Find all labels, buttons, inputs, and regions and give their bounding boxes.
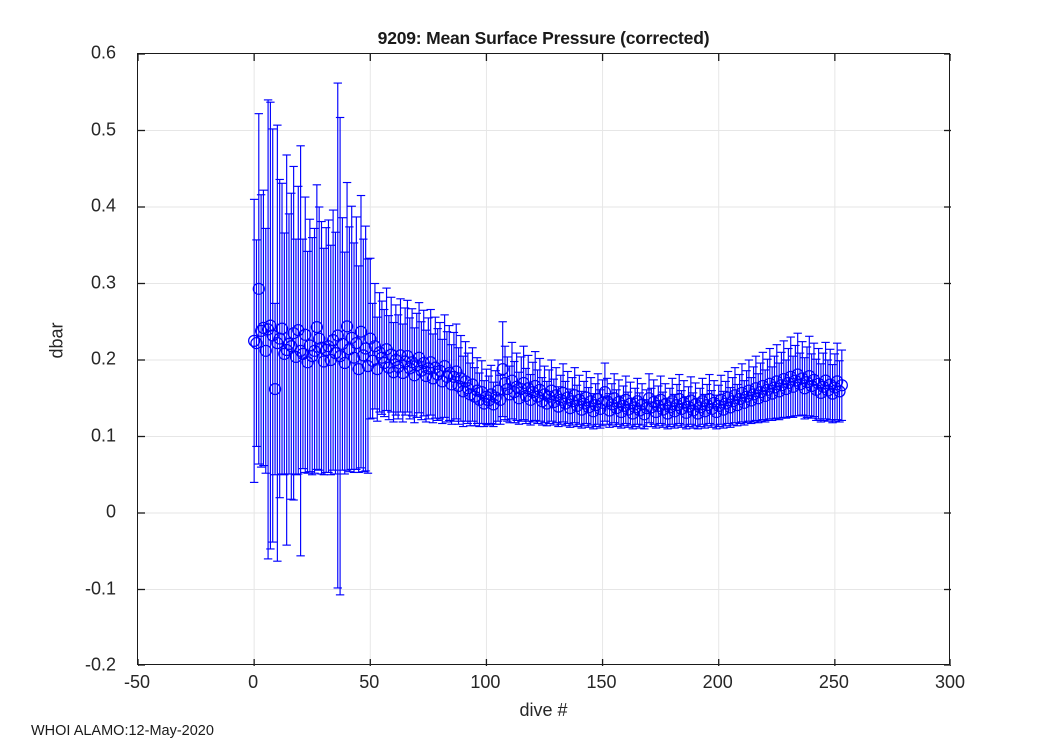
- x-axis-tick-labels: -50050100150200250300: [137, 672, 950, 702]
- x-tick-label: -50: [124, 672, 150, 693]
- data-marker-layer: [249, 283, 848, 419]
- x-tick-label: 250: [819, 672, 849, 693]
- y-tick-label: 0.4: [91, 196, 116, 217]
- y-tick-label: 0: [106, 502, 116, 523]
- y-tick-label: 0.6: [91, 43, 116, 64]
- y-tick-label: -0.1: [85, 578, 116, 599]
- y-axis-label: dbar: [47, 281, 68, 401]
- x-tick-label: 50: [359, 672, 379, 693]
- y-tick-label: 0.3: [91, 272, 116, 293]
- y-tick-label: 0.2: [91, 349, 116, 370]
- figure-canvas: 9209: Mean Surface Pressure (corrected) …: [0, 0, 1050, 750]
- x-axis-label: dive #: [137, 700, 950, 721]
- chart-title: 9209: Mean Surface Pressure (corrected): [137, 28, 950, 49]
- plot-area: [137, 53, 950, 665]
- x-tick-label: 150: [587, 672, 617, 693]
- y-tick-label: 0.1: [91, 425, 116, 446]
- x-tick-label: 200: [703, 672, 733, 693]
- x-tick-label: 0: [248, 672, 258, 693]
- x-tick-label: 300: [935, 672, 965, 693]
- x-tick-label: 100: [470, 672, 500, 693]
- y-tick-label: 0.5: [91, 119, 116, 140]
- plot-svg: [138, 54, 951, 666]
- y-tick-label: -0.2: [85, 655, 116, 676]
- footer-note: WHOI ALAMO:12-May-2020: [31, 723, 214, 739]
